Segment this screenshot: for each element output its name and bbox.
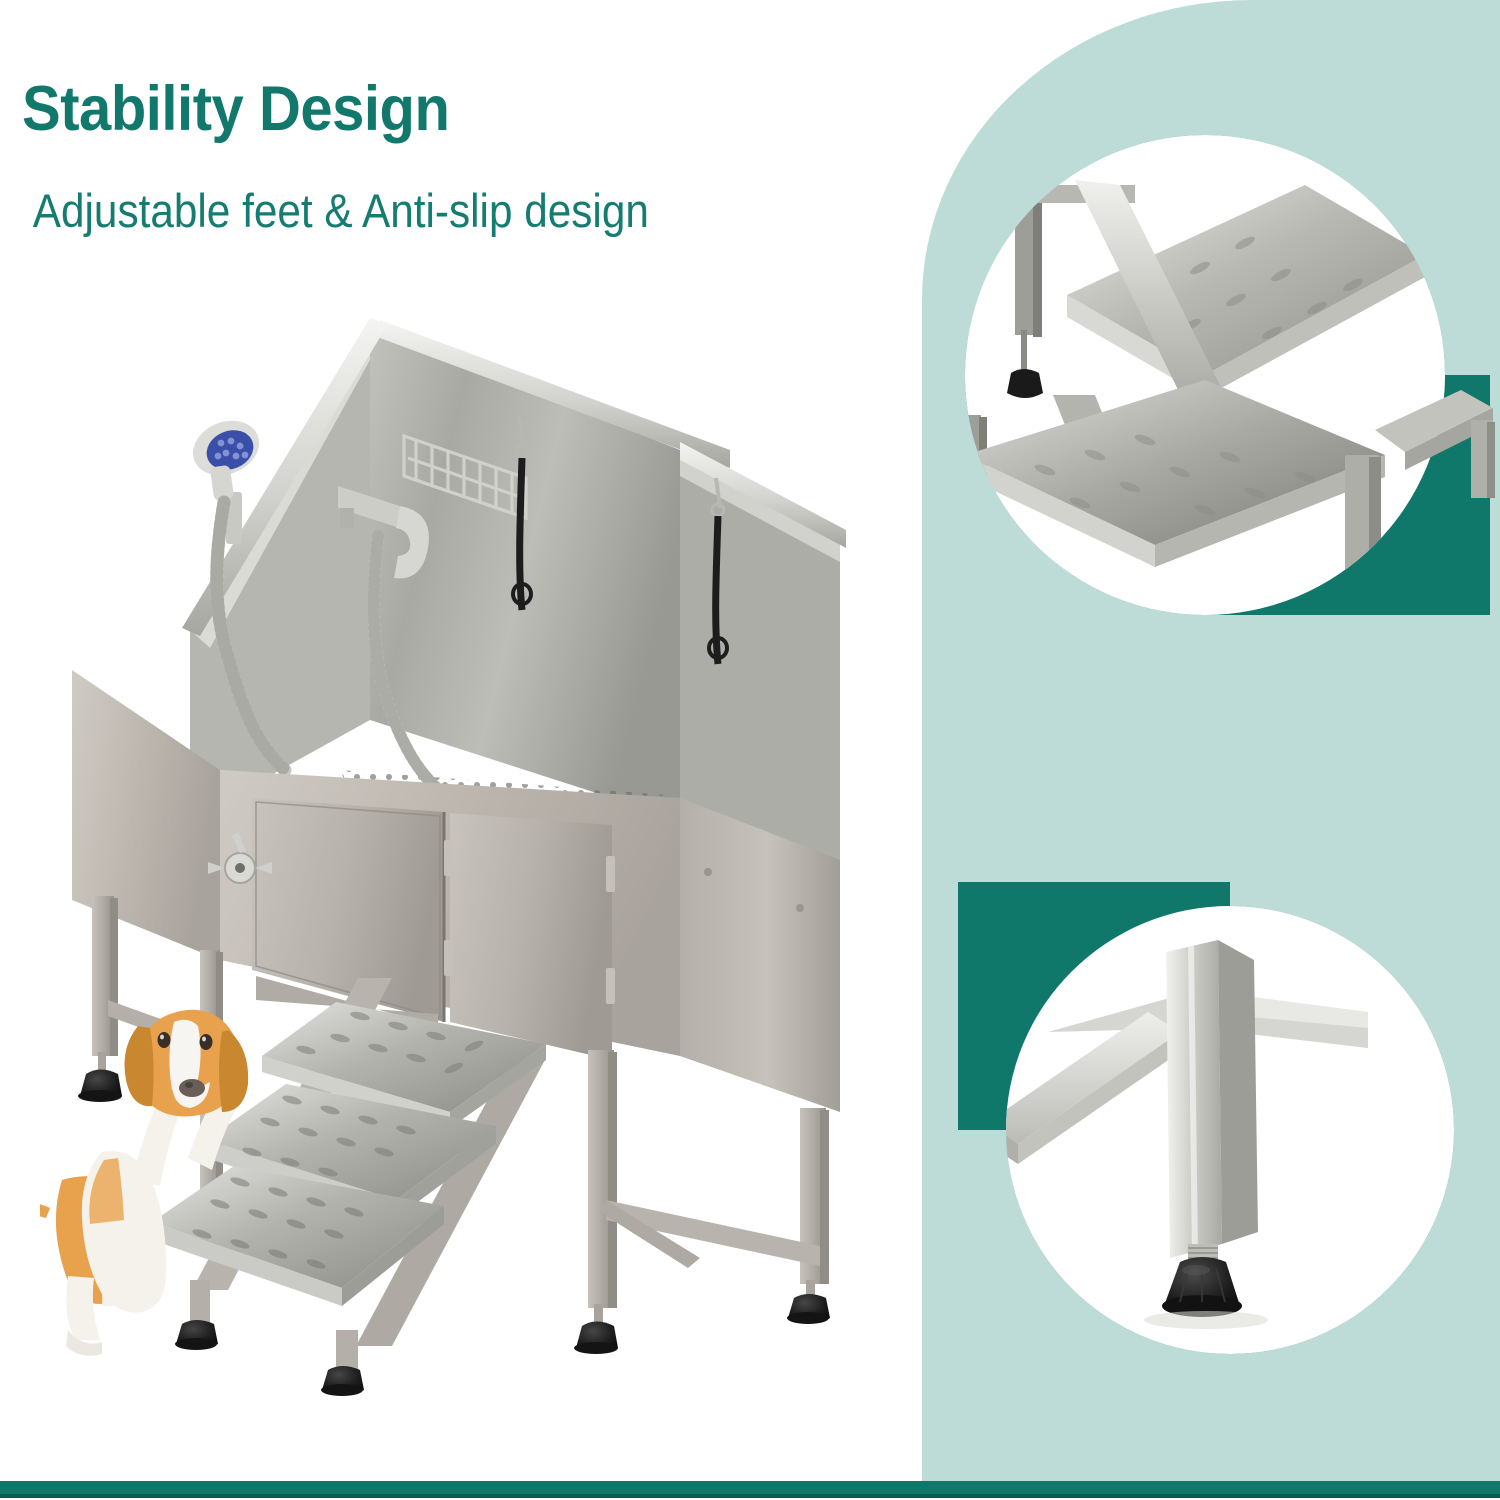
product-illustration-grooming-tub xyxy=(40,300,960,1420)
callout-adjustable-foot xyxy=(948,872,1500,1392)
shower-head xyxy=(185,411,268,501)
callout-anti-slip-steps xyxy=(955,125,1500,645)
footer-bar xyxy=(0,1481,1500,1494)
dog-ear-right xyxy=(219,1030,248,1112)
heading-block: Stability Design Adjustable feet & Anti-… xyxy=(22,78,719,234)
tub-back-wall xyxy=(370,328,680,820)
infographic-canvas: Stability Design Adjustable feet & Anti-… xyxy=(0,0,1500,1500)
cross-brace-right xyxy=(600,1200,820,1268)
dog-ear-left xyxy=(125,1026,154,1106)
page-title: Stability Design xyxy=(22,78,663,141)
footer-bar-shadow xyxy=(0,1494,1500,1498)
page-subtitle: Adjustable feet & Anti-slip design xyxy=(22,141,649,234)
leg-right-rear xyxy=(787,1108,830,1324)
leg-front-left xyxy=(78,896,122,1102)
cabinet-door-leaf-2 xyxy=(450,813,612,1060)
table-leg xyxy=(1166,940,1258,1258)
callout-overflow-step xyxy=(1375,390,1500,510)
